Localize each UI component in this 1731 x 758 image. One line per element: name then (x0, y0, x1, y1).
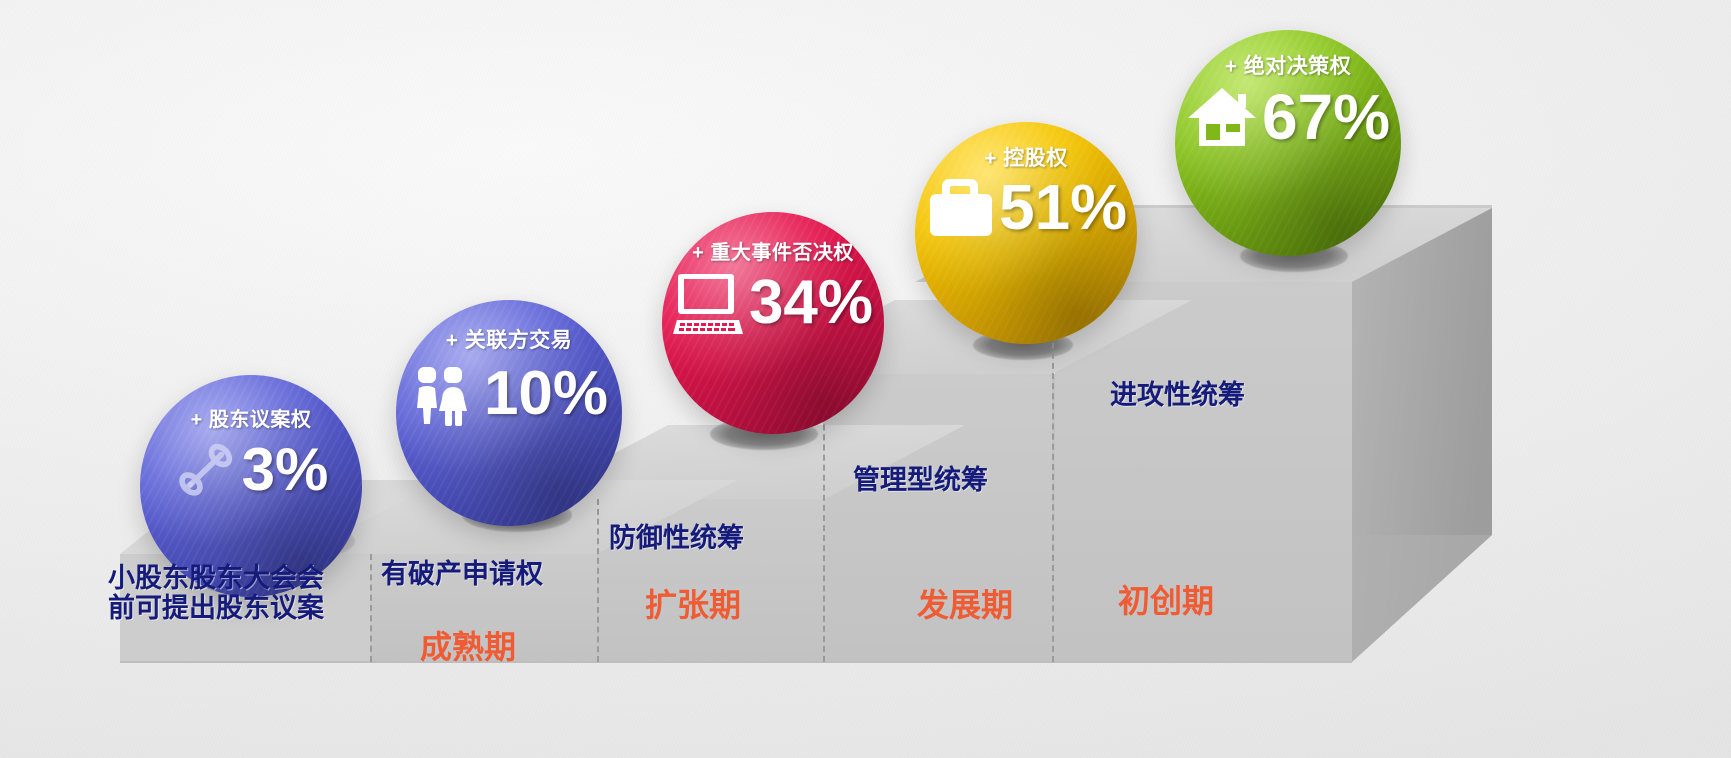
computer-icon (673, 268, 747, 338)
sphere-34[interactable]: + 重大事件否决权 (662, 212, 884, 434)
people-icon (410, 358, 482, 430)
tier-2-label: 有破产申请权 (381, 552, 543, 591)
stage-5-label: 初创期 (1118, 576, 1214, 622)
tier-divider-4 (370, 554, 372, 662)
sphere-3-percent: 3% (242, 440, 329, 500)
stage-4-label: 发展期 (917, 580, 1013, 626)
sphere-10[interactable]: + 关联方交易 10% (396, 300, 622, 526)
tier-1-note-line2: 前可提出股东议案 (108, 593, 324, 623)
briefcase-icon (925, 174, 997, 240)
scroll-icon (174, 437, 240, 503)
tier-3-label: 防御性统筹 (609, 516, 744, 555)
sphere-67-percent: 67% (1262, 85, 1390, 149)
sphere-3-title: + 股东议案权 (140, 403, 362, 432)
tier-divider-1 (597, 499, 599, 662)
house-icon (1186, 82, 1260, 152)
sphere-10-title: + 关联方交易 (396, 324, 622, 354)
stage-2-label: 成熟期 (420, 622, 516, 668)
base-shadow-right (1352, 535, 1492, 662)
sphere-34-body: 34% (662, 268, 884, 338)
sphere-34-title: + 重大事件否决权 (662, 236, 884, 265)
tier-1-note-line1: 小股东股东大会会 (108, 563, 324, 593)
sphere-34-percent: 34% (749, 272, 873, 334)
sphere-10-body: 10% (396, 358, 622, 430)
infographic-canvas: + 股东议案权 3% + 关联方交易 (0, 0, 1731, 758)
stage-3-label: 扩张期 (645, 580, 741, 626)
sphere-51-body: 51% (915, 174, 1137, 240)
sphere-10-percent: 10% (484, 363, 608, 425)
tier-4-label: 管理型统筹 (853, 458, 988, 497)
sphere-3-body: 3% (140, 437, 362, 503)
sphere-51-percent: 51% (999, 175, 1127, 239)
sphere-67[interactable]: + 绝对决策权 67% (1175, 30, 1401, 256)
sphere-51-title: + 控股权 (915, 142, 1137, 172)
tier-1-note: 小股东股东大会会 前可提出股东议案 (108, 563, 324, 623)
sphere-67-title: + 绝对决策权 (1175, 50, 1401, 80)
sphere-51[interactable]: + 控股权 51% (915, 122, 1137, 344)
tier-5-label: 进攻性统筹 (1110, 373, 1245, 412)
sphere-67-body: 67% (1175, 82, 1401, 152)
